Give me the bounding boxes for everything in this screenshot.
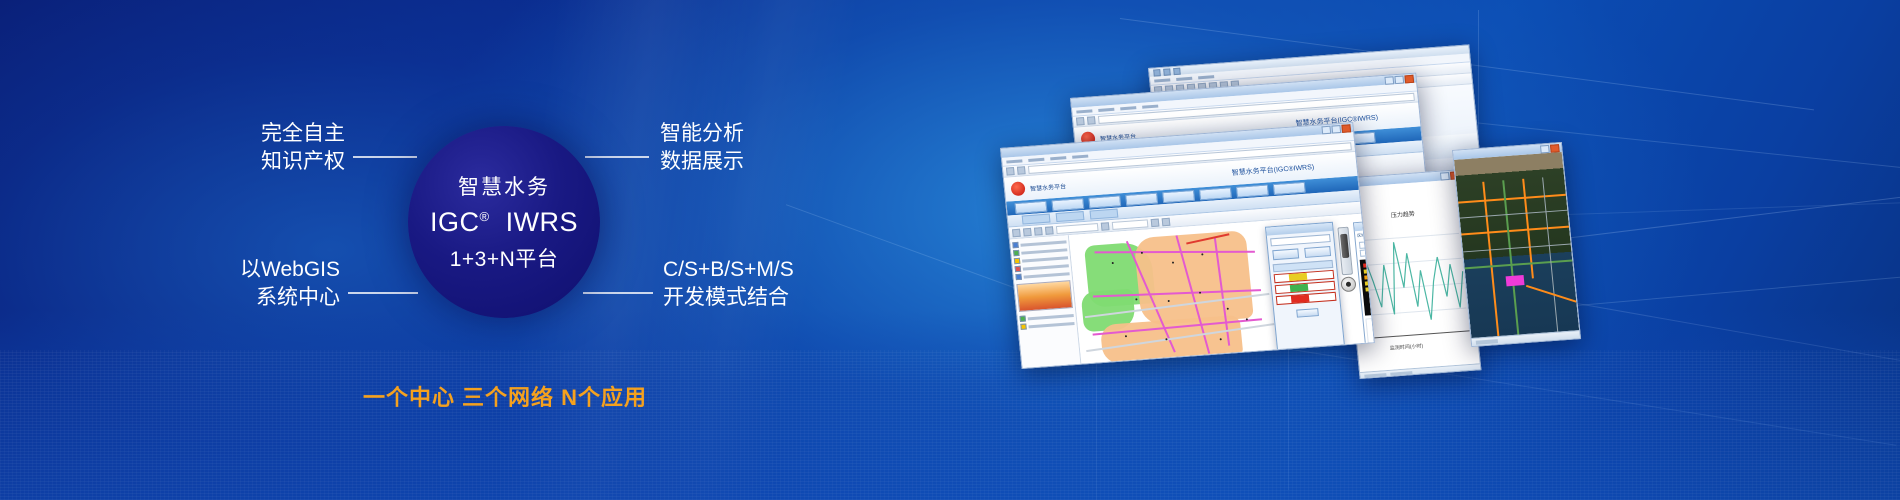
maximize-icon[interactable] [1394,75,1404,84]
nav-tab[interactable] [1162,189,1195,202]
map-node [1165,338,1167,340]
feature-top-right-line2: 数据展示 [660,148,860,176]
minimize-icon[interactable] [1540,144,1550,153]
floor-texture [0,350,1900,500]
app-window-satellite[interactable] [1452,142,1581,347]
gis-map-canvas[interactable]: 区域水量平衡分析 供水量 52.23 [1069,214,1374,369]
hub-product-prefix: IGC [430,207,480,237]
feature-label-bottom-right: C/S+B/S+M/S 开发模式结合 [663,256,893,311]
layer-icon [1012,242,1019,248]
hub-product-name: IGC® IWRS [430,207,578,238]
minimize-icon[interactable] [1440,172,1450,181]
nav-tab[interactable] [1236,184,1269,197]
measure-icon[interactable] [1101,222,1110,231]
feature-label-bottom-left: 以WebGIS 系统中心 [140,256,340,311]
sub-tab[interactable] [1090,209,1119,220]
hub-platform-line: 1+3+N平台 [450,243,559,273]
map-node [1141,252,1143,254]
quick-icon[interactable] [1153,69,1161,76]
nav-tab[interactable] [1014,200,1047,213]
map-pan-control[interactable] [1340,276,1356,292]
clear-button[interactable] [1304,246,1331,258]
map-zoom-slider[interactable] [1337,227,1353,276]
menu-item[interactable] [1176,76,1192,80]
connector-bottom-right [583,292,653,294]
map-node [1199,292,1201,294]
layer-icon [1015,266,1022,272]
feature-top-left-line1: 完全自主 [160,120,345,148]
nav-tab[interactable] [1273,181,1306,194]
layer-icon [1019,316,1026,322]
map-node [1168,300,1170,302]
app-window-front[interactable]: 智慧水务平台 智慧水务平台(IGC®IWRS) [1000,122,1375,369]
layer-icon [1015,274,1022,280]
nav-tab[interactable] [1051,198,1084,211]
hub-chinese-title: 智慧水务 [458,171,550,201]
feature-top-left-line2: 知识产权 [160,148,345,176]
back-icon[interactable] [1076,117,1085,126]
menu-item[interactable] [1098,107,1114,111]
zoom-out-icon[interactable] [1034,227,1043,236]
identify-icon[interactable] [1151,218,1160,227]
menu-item[interactable] [1050,156,1066,160]
menu-item[interactable] [1028,157,1044,161]
map-node [1220,338,1222,340]
satellite-map-canvas[interactable] [1454,152,1579,338]
gis-workspace[interactable]: 区域水量平衡分析 供水量 52.23 [1010,214,1374,369]
back-icon[interactable] [1006,167,1015,176]
minimize-icon[interactable] [1321,125,1331,134]
pan-icon[interactable] [1012,228,1021,237]
map-node [1135,298,1137,300]
connector-bottom-left [348,292,418,294]
legend-color-ramp [1016,280,1073,312]
map-node [1172,262,1174,264]
forward-icon[interactable] [1017,166,1026,175]
tagline: 一个中心 三个网络 N个应用 [0,380,1010,412]
menu-item[interactable] [1072,154,1088,158]
banner-stage: 完全自主 知识产权 智能分析 数据展示 以WebGIS 系统中心 C/S+B/S… [0,0,1900,500]
map-node [1227,308,1229,310]
connector-top-right [585,156,649,158]
menu-item[interactable] [1142,104,1158,108]
zoom-slider-thumb[interactable] [1340,234,1349,258]
print-icon[interactable] [1162,217,1171,226]
menu-item[interactable] [1154,78,1170,82]
quick-icon[interactable] [1163,68,1171,75]
feature-top-right-line1: 智能分析 [660,120,860,148]
maximize-icon[interactable] [1331,125,1341,134]
feature-bottom-left-line2: 系统中心 [140,284,340,312]
connector-top-left [353,156,417,158]
search-input[interactable] [1112,219,1149,230]
nav-tab[interactable] [1088,195,1121,208]
layer-icon [1014,258,1021,264]
layer-tree-item[interactable] [1015,270,1069,280]
menu-item[interactable] [1120,106,1136,110]
feature-label-top-right: 智能分析 数据展示 [660,120,860,175]
company-logo-icon [1010,181,1025,196]
minimize-icon[interactable] [1384,76,1394,85]
highlighted-parcel[interactable] [1506,275,1525,286]
sub-tab[interactable] [1056,211,1085,222]
brand-text-front: 智慧水务平台 [1030,181,1067,193]
layer-icon [1020,323,1027,329]
close-icon[interactable] [1404,74,1414,83]
sub-tab[interactable] [1022,214,1051,225]
query-button[interactable] [1272,248,1299,260]
menu-item[interactable] [1076,109,1092,113]
zoom-in-icon[interactable] [1023,227,1032,236]
registered-mark-icon: ® [479,209,489,224]
map-region-orange [1133,230,1253,326]
feature-bottom-right-line1: C/S+B/S+M/S [663,256,893,284]
quick-icon[interactable] [1173,67,1181,74]
map-node [1125,335,1127,337]
map-node [1112,262,1114,264]
feature-bottom-left-line1: 以WebGIS [140,256,340,284]
close-icon[interactable] [1550,144,1560,153]
layer-select[interactable] [1056,223,1099,234]
map-node [1201,253,1203,255]
feature-label-top-left: 完全自主 知识产权 [160,120,345,175]
hub-product-suffix: IWRS [506,207,579,237]
hub-circle: 智慧水务 IGC® IWRS 1+3+N平台 [408,126,600,318]
nav-tab[interactable] [1125,192,1158,205]
dialog-ok-button[interactable] [1296,308,1319,318]
forward-icon[interactable] [1087,116,1096,125]
menu-item[interactable] [1198,75,1214,79]
dialog-input[interactable] [1270,234,1331,246]
burst-analysis-dialog[interactable] [1265,222,1345,350]
window-front-title: 智慧水务平台(IGC®IWRS) [1231,162,1314,178]
layer-tree-item[interactable] [1020,320,1074,330]
select-icon[interactable] [1045,226,1054,235]
layer-icon [1013,250,1020,256]
feature-bottom-right-line2: 开发模式结合 [663,284,893,312]
menu-item[interactable] [1006,159,1022,163]
dialog-table-row[interactable] [1276,292,1337,305]
nav-tab[interactable] [1199,187,1232,200]
close-icon[interactable] [1341,124,1351,133]
map-node [1246,318,1248,320]
